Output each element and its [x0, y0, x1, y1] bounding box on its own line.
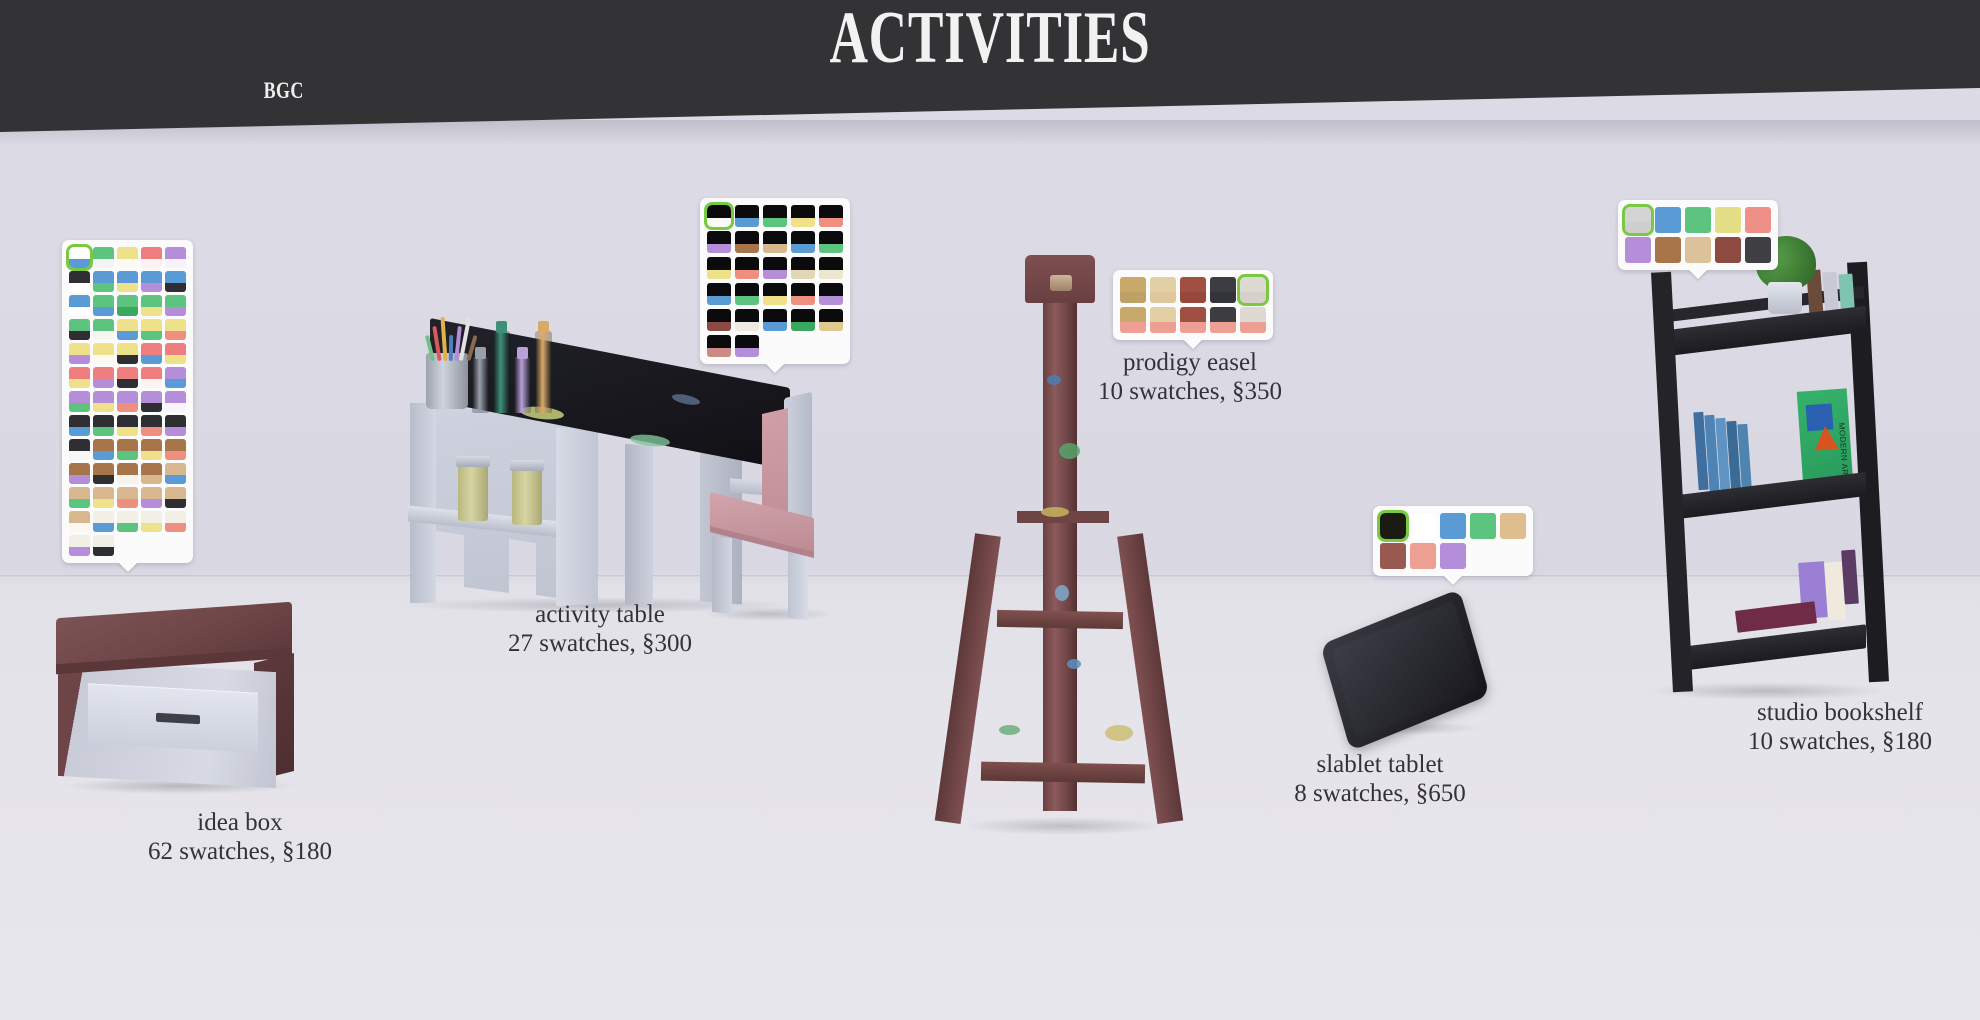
swatch-activity-table-22[interactable]	[763, 309, 787, 331]
caption-prodigy-easel: prodigy easel 10 swatches, §350	[1030, 348, 1350, 406]
swatch-bottom	[165, 283, 186, 292]
book-bottom-darkpurple	[1841, 550, 1859, 605]
swatch-top	[69, 535, 90, 547]
swatch-bottom	[1180, 322, 1206, 333]
swatch-top	[763, 283, 787, 296]
swatch-bottom	[707, 270, 731, 279]
bookshelf-shelf-bottom	[1674, 624, 1866, 672]
swatch-top	[1685, 207, 1711, 222]
swatch-top	[1625, 207, 1651, 222]
swatch-idea-box-42[interactable]	[117, 439, 138, 460]
swatch-idea-box-11[interactable]	[93, 295, 114, 316]
swatch-top	[165, 463, 186, 475]
swatch-idea-box-54[interactable]	[165, 487, 186, 508]
swatch-bottom	[791, 322, 815, 331]
swatch-top	[141, 247, 162, 259]
swatch-bottom	[69, 499, 90, 508]
swatch-top	[69, 415, 90, 427]
potted-plant-pot	[1768, 282, 1802, 314]
swatch-idea-box-31[interactable]	[93, 391, 114, 412]
book-cover-shape-square	[1806, 403, 1834, 431]
swatch-top	[707, 283, 731, 296]
palette-studio-bookshelf[interactable]	[1618, 200, 1778, 270]
swatch-idea-box-5[interactable]	[69, 271, 90, 292]
swatch-prodigy-easel-7[interactable]	[1180, 307, 1206, 333]
swatch-bottom	[69, 283, 90, 292]
swatch-bottom	[1745, 222, 1771, 233]
swatch-idea-box-14[interactable]	[165, 295, 186, 316]
swatch-bottom	[141, 283, 162, 292]
swatch-prodigy-easel-1[interactable]	[1150, 277, 1176, 303]
easel-paint-spot-2	[1041, 507, 1069, 517]
swatch-idea-box-34[interactable]	[165, 391, 186, 412]
caption-swatches-idea-box: 62 swatches, §180	[90, 837, 390, 866]
swatch-bottom	[93, 451, 114, 460]
swatch-bottom	[707, 244, 731, 253]
swatch-activity-table-24[interactable]	[819, 309, 843, 331]
swatch-bottom	[763, 218, 787, 227]
swatch-bottom	[93, 523, 114, 532]
swatch-bottom	[165, 331, 186, 340]
swatch-bottom	[69, 523, 90, 532]
object-studio-bookshelf[interactable]: MODERN ART	[1640, 262, 1900, 702]
swatch-bottom	[1380, 528, 1406, 539]
swatch-slablet-tablet-0[interactable]	[1380, 513, 1406, 539]
swatch-top	[141, 463, 162, 475]
swatch-bottom	[1655, 252, 1681, 263]
swatch-bottom	[165, 427, 186, 436]
swatch-bottom	[1240, 292, 1266, 303]
chair-leg-rear	[788, 546, 808, 620]
swatch-bottom	[141, 355, 162, 364]
swatch-bottom	[69, 259, 90, 268]
swatch-bottom	[117, 379, 138, 388]
swatch-idea-box-23[interactable]	[141, 343, 162, 364]
swatch-idea-box-33[interactable]	[141, 391, 162, 412]
swatch-bottom	[763, 296, 787, 305]
swatch-bottom	[763, 270, 787, 279]
pencils-group	[424, 321, 476, 361]
swatch-top	[117, 463, 138, 475]
palette-idea-box[interactable]	[62, 240, 193, 563]
swatch-bottom	[141, 427, 162, 436]
swatch-idea-box-12[interactable]	[117, 295, 138, 316]
swatch-activity-table-6[interactable]	[735, 231, 759, 253]
easel-knob	[1050, 275, 1072, 291]
swatch-bottom	[141, 307, 162, 316]
swatch-bottom	[141, 475, 162, 484]
swatch-top	[165, 343, 186, 355]
swatch-idea-box-6[interactable]	[93, 271, 114, 292]
swatch-bottom	[117, 355, 138, 364]
swatch-activity-table-14[interactable]	[819, 257, 843, 279]
swatch-top	[735, 205, 759, 218]
swatch-activity-table-4[interactable]	[819, 205, 843, 227]
swatch-idea-box-35[interactable]	[69, 415, 90, 436]
swatch-activity-table-10[interactable]	[707, 257, 731, 279]
swatch-studio-bookshelf-1[interactable]	[1655, 207, 1681, 233]
swatch-top	[165, 247, 186, 259]
swatch-top	[763, 231, 787, 244]
paint-bottle-3	[535, 331, 552, 413]
swatch-activity-table-7[interactable]	[763, 231, 787, 253]
swatch-bottom	[69, 307, 90, 316]
swatch-idea-box-7[interactable]	[117, 271, 138, 292]
swatch-top	[69, 463, 90, 475]
swatch-slablet-tablet-7[interactable]	[1440, 543, 1466, 569]
swatch-top	[735, 335, 759, 348]
swatch-idea-box-48[interactable]	[141, 463, 162, 484]
swatch-activity-table-15[interactable]	[707, 283, 731, 305]
swatch-idea-box-15[interactable]	[69, 319, 90, 340]
palette-pointer-prodigy-easel	[1183, 339, 1203, 349]
swatch-top	[165, 295, 186, 307]
swatch-idea-box-61[interactable]	[93, 535, 114, 556]
swatch-activity-table-1[interactable]	[735, 205, 759, 227]
swatch-idea-box-43[interactable]	[141, 439, 162, 460]
object-idea-box[interactable]	[48, 610, 308, 810]
swatch-idea-box-17[interactable]	[117, 319, 138, 340]
swatch-idea-box-51[interactable]	[93, 487, 114, 508]
swatch-top	[141, 319, 162, 331]
swatch-activity-table-2[interactable]	[763, 205, 787, 227]
swatch-idea-box-16[interactable]	[93, 319, 114, 340]
pencil-3	[449, 335, 453, 361]
swatch-idea-box-18[interactable]	[141, 319, 162, 340]
swatch-top	[165, 367, 186, 379]
activity-table-leg-left	[410, 403, 436, 603]
swatch-slablet-tablet-5[interactable]	[1380, 543, 1406, 569]
book-title-text: MODERN ART	[1837, 422, 1850, 481]
swatch-bottom	[117, 499, 138, 508]
swatch-bottom	[117, 427, 138, 436]
swatch-idea-box-0[interactable]	[69, 247, 90, 268]
swatch-top	[93, 247, 114, 259]
swatch-bottom	[69, 475, 90, 484]
swatch-idea-box-4[interactable]	[165, 247, 186, 268]
swatch-studio-bookshelf-9[interactable]	[1745, 237, 1771, 263]
swatch-activity-table-11[interactable]	[735, 257, 759, 279]
swatch-idea-box-49[interactable]	[165, 463, 186, 484]
swatch-prodigy-easel-6[interactable]	[1150, 307, 1176, 333]
palette-grid-idea-box[interactable]	[69, 247, 186, 556]
swatch-idea-box-37[interactable]	[117, 415, 138, 436]
swatch-top	[93, 319, 114, 331]
swatch-top	[1380, 513, 1406, 528]
swatch-prodigy-easel-4[interactable]	[1240, 277, 1266, 303]
swatch-top	[1745, 207, 1771, 222]
swatch-activity-table-12[interactable]	[763, 257, 787, 279]
swatch-idea-box-27[interactable]	[117, 367, 138, 388]
swatch-activity-table-13[interactable]	[791, 257, 815, 279]
swatch-top	[141, 439, 162, 451]
activity-table-jar-left	[458, 465, 488, 521]
swatch-idea-box-32[interactable]	[117, 391, 138, 412]
swatch-idea-box-59[interactable]	[165, 511, 186, 532]
caption-name-prodigy-easel: prodigy easel	[1030, 348, 1350, 377]
swatch-prodigy-easel-2[interactable]	[1180, 277, 1206, 303]
swatch-top	[1240, 307, 1266, 322]
paint-bottles-group	[472, 303, 564, 413]
swatch-bottom	[165, 523, 186, 532]
caption-studio-bookshelf: studio bookshelf 10 swatches, §180	[1690, 698, 1980, 756]
easel-shadow	[961, 817, 1166, 835]
swatch-slablet-tablet-1[interactable]	[1410, 513, 1436, 539]
swatch-bottom	[819, 270, 843, 279]
swatch-bottom	[1685, 252, 1711, 263]
swatch-bottom	[165, 355, 186, 364]
swatch-top	[117, 391, 138, 403]
swatch-activity-table-17[interactable]	[763, 283, 787, 305]
swatch-prodigy-easel-9[interactable]	[1240, 307, 1266, 333]
swatch-bottom	[93, 259, 114, 268]
swatch-top	[69, 439, 90, 451]
swatch-idea-box-53[interactable]	[141, 487, 162, 508]
swatch-activity-table-21[interactable]	[735, 309, 759, 331]
chair-back-frame	[784, 392, 812, 528]
swatch-top	[819, 283, 843, 296]
palette-slablet-tablet[interactable]	[1373, 506, 1533, 576]
swatch-top	[1440, 513, 1466, 528]
palette-pointer-studio-bookshelf	[1688, 269, 1708, 279]
swatch-prodigy-easel-0[interactable]	[1120, 277, 1146, 303]
palette-prodigy-easel[interactable]	[1113, 270, 1273, 340]
swatch-idea-box-3[interactable]	[141, 247, 162, 268]
swatch-top	[1150, 277, 1176, 292]
swatch-bottom	[165, 379, 186, 388]
swatch-idea-box-25[interactable]	[69, 367, 90, 388]
swatch-bottom	[1180, 292, 1206, 303]
pencil-cup	[426, 353, 468, 409]
swatch-top	[93, 295, 114, 307]
swatch-bottom	[707, 348, 731, 357]
swatch-top	[791, 231, 815, 244]
swatch-bottom	[93, 331, 114, 340]
swatch-idea-box-38[interactable]	[141, 415, 162, 436]
swatch-bottom	[707, 296, 731, 305]
palette-pointer-idea-box	[118, 562, 138, 572]
swatch-bottom	[69, 451, 90, 460]
swatch-idea-box-26[interactable]	[93, 367, 114, 388]
swatch-bottom	[819, 296, 843, 305]
swatch-idea-box-56[interactable]	[93, 511, 114, 532]
swatch-top	[141, 511, 162, 523]
swatch-idea-box-10[interactable]	[69, 295, 90, 316]
swatch-top	[707, 335, 731, 348]
swatch-bottom	[93, 547, 114, 556]
swatch-idea-box-39[interactable]	[165, 415, 186, 436]
caption-activity-table: activity table 27 swatches, §300	[440, 600, 760, 658]
swatch-idea-box-41[interactable]	[93, 439, 114, 460]
swatch-idea-box-57[interactable]	[117, 511, 138, 532]
swatch-idea-box-36[interactable]	[93, 415, 114, 436]
swatch-bottom	[1745, 252, 1771, 263]
swatch-top	[93, 415, 114, 427]
swatch-idea-box-52[interactable]	[117, 487, 138, 508]
swatch-idea-box-40[interactable]	[69, 439, 90, 460]
swatch-bottom	[69, 547, 90, 556]
swatch-top	[117, 343, 138, 355]
swatch-idea-box-55[interactable]	[69, 511, 90, 532]
swatch-bottom	[1410, 558, 1436, 569]
palette-pointer-activity-table	[765, 363, 785, 373]
swatch-activity-table-5[interactable]	[707, 231, 731, 253]
swatch-top	[141, 391, 162, 403]
swatch-activity-table-16[interactable]	[735, 283, 759, 305]
swatch-top	[791, 283, 815, 296]
swatch-top	[141, 415, 162, 427]
object-activity-chair[interactable]	[710, 395, 850, 620]
swatch-prodigy-easel-3[interactable]	[1210, 277, 1236, 303]
swatch-bottom	[69, 331, 90, 340]
swatch-slablet-tablet-6[interactable]	[1410, 543, 1436, 569]
swatch-activity-table-0[interactable]	[707, 205, 731, 227]
swatch-bottom	[735, 218, 759, 227]
swatch-top	[69, 511, 90, 523]
swatch-bottom	[117, 259, 138, 268]
swatch-idea-box-29[interactable]	[165, 367, 186, 388]
swatch-bottom	[117, 283, 138, 292]
swatch-idea-box-2[interactable]	[117, 247, 138, 268]
swatch-idea-box-28[interactable]	[141, 367, 162, 388]
swatch-top	[1655, 207, 1681, 222]
swatch-top	[69, 295, 90, 307]
swatch-activity-table-20[interactable]	[707, 309, 731, 331]
easel-paint-spot-3	[1055, 585, 1069, 601]
swatch-idea-box-30[interactable]	[69, 391, 90, 412]
swatch-studio-bookshelf-7[interactable]	[1685, 237, 1711, 263]
swatch-idea-box-47[interactable]	[117, 463, 138, 484]
swatch-idea-box-20[interactable]	[69, 343, 90, 364]
page-title: ACTIVITIES	[277, 0, 1703, 81]
swatch-bottom	[69, 355, 90, 364]
swatch-bottom	[1240, 322, 1266, 333]
swatch-studio-bookshelf-8[interactable]	[1715, 237, 1741, 263]
swatch-studio-bookshelf-5[interactable]	[1625, 237, 1651, 263]
swatch-bottom	[93, 355, 114, 364]
swatch-prodigy-easel-8[interactable]	[1210, 307, 1236, 333]
palette-grid-activity-table[interactable]	[707, 205, 843, 357]
swatch-top	[1210, 307, 1236, 322]
swatch-idea-box-45[interactable]	[69, 463, 90, 484]
swatch-bottom	[117, 523, 138, 532]
swatch-activity-table-18[interactable]	[791, 283, 815, 305]
swatch-bottom	[735, 322, 759, 331]
swatch-prodigy-easel-5[interactable]	[1120, 307, 1146, 333]
swatch-idea-box-19[interactable]	[165, 319, 186, 340]
swatch-studio-bookshelf-2[interactable]	[1685, 207, 1711, 233]
swatch-top	[93, 271, 114, 283]
palette-grid-studio-bookshelf[interactable]	[1625, 207, 1771, 263]
swatch-idea-box-60[interactable]	[69, 535, 90, 556]
swatch-bottom	[93, 427, 114, 436]
swatch-studio-bookshelf-0[interactable]	[1625, 207, 1651, 233]
swatch-idea-box-13[interactable]	[141, 295, 162, 316]
swatch-idea-box-22[interactable]	[117, 343, 138, 364]
swatch-idea-box-21[interactable]	[93, 343, 114, 364]
palette-activity-table[interactable]	[700, 198, 850, 364]
swatch-top	[707, 257, 731, 270]
swatch-bottom	[117, 475, 138, 484]
swatch-top	[69, 247, 90, 259]
swatch-studio-bookshelf-4[interactable]	[1745, 207, 1771, 233]
swatch-idea-box-9[interactable]	[165, 271, 186, 292]
swatch-studio-bookshelf-3[interactable]	[1715, 207, 1741, 233]
swatch-top	[117, 367, 138, 379]
palette-grid-slablet-tablet[interactable]	[1380, 513, 1526, 569]
swatch-top	[93, 367, 114, 379]
swatch-bottom	[791, 244, 815, 253]
swatch-top	[763, 205, 787, 218]
swatch-top	[707, 205, 731, 218]
swatch-top	[93, 487, 114, 499]
swatch-bottom	[117, 451, 138, 460]
easel-crossbar-upper	[997, 610, 1123, 629]
swatch-idea-box-44[interactable]	[165, 439, 186, 460]
swatch-top	[141, 271, 162, 283]
swatch-studio-bookshelf-6[interactable]	[1655, 237, 1681, 263]
swatch-slablet-tablet-4[interactable]	[1500, 513, 1526, 539]
swatch-top	[117, 511, 138, 523]
swatch-top	[141, 343, 162, 355]
swatch-top	[1210, 277, 1236, 292]
swatch-bottom	[69, 403, 90, 412]
swatch-top	[1180, 277, 1206, 292]
swatch-activity-table-19[interactable]	[819, 283, 843, 305]
swatch-activity-table-25[interactable]	[707, 335, 731, 357]
caption-name-activity-table: activity table	[440, 600, 760, 629]
palette-grid-prodigy-easel[interactable]	[1120, 277, 1266, 333]
swatch-activity-table-3[interactable]	[791, 205, 815, 227]
swatch-bottom	[69, 427, 90, 436]
swatch-activity-table-23[interactable]	[791, 309, 815, 331]
pencil-2	[440, 317, 447, 361]
swatch-top	[735, 309, 759, 322]
book-modern-art: MODERN ART	[1797, 388, 1854, 487]
swatch-bottom	[165, 307, 186, 316]
swatch-bottom	[791, 218, 815, 227]
swatch-top	[707, 231, 731, 244]
swatch-activity-table-9[interactable]	[819, 231, 843, 253]
swatch-bottom	[735, 348, 759, 357]
swatch-bottom	[1120, 322, 1146, 333]
swatch-bottom	[1120, 292, 1146, 303]
swatch-bottom	[1625, 252, 1651, 263]
swatch-bottom	[141, 451, 162, 460]
swatch-top	[1625, 237, 1651, 252]
swatch-bottom	[1625, 222, 1651, 233]
object-slablet-tablet[interactable]	[1320, 605, 1500, 765]
activity-table-jar-right	[512, 469, 542, 525]
swatch-top	[69, 271, 90, 283]
swatch-activity-table-26[interactable]	[735, 335, 759, 357]
swatch-idea-box-24[interactable]	[165, 343, 186, 364]
swatch-idea-box-8[interactable]	[141, 271, 162, 292]
swatch-idea-box-58[interactable]	[141, 511, 162, 532]
swatch-top	[1655, 237, 1681, 252]
swatch-idea-box-1[interactable]	[93, 247, 114, 268]
swatch-top	[1410, 543, 1436, 558]
swatch-idea-box-50[interactable]	[69, 487, 90, 508]
swatch-activity-table-8[interactable]	[791, 231, 815, 253]
swatch-bottom	[93, 403, 114, 412]
swatch-bottom	[93, 379, 114, 388]
swatch-top	[93, 511, 114, 523]
swatch-slablet-tablet-3[interactable]	[1470, 513, 1496, 539]
swatch-top	[165, 439, 186, 451]
swatch-idea-box-46[interactable]	[93, 463, 114, 484]
swatch-slablet-tablet-2[interactable]	[1440, 513, 1466, 539]
